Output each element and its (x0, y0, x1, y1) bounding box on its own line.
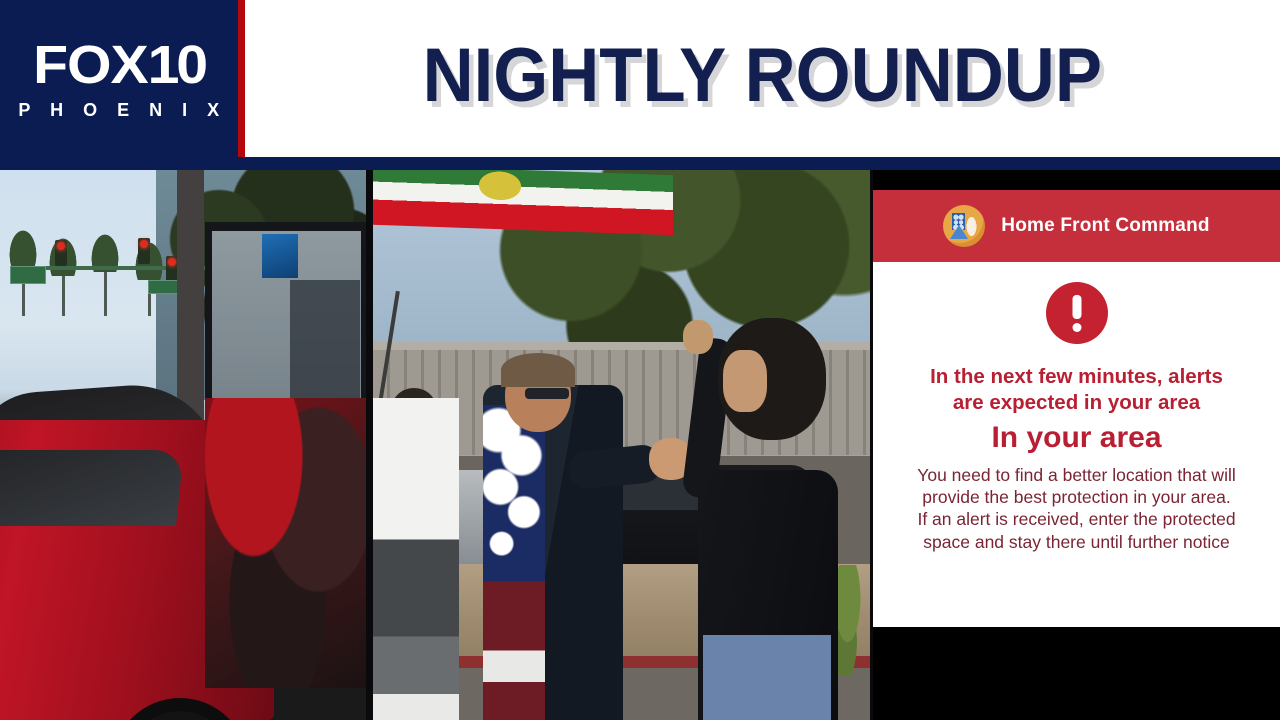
exclamation-bar (1072, 295, 1081, 319)
traffic-light (55, 240, 67, 266)
channel-number: 10 (148, 35, 205, 95)
header-bar: FOX10 P H O E N I X NIGHTLY ROUNDUP (0, 0, 1280, 157)
shelter-advertisement (262, 234, 298, 278)
letterbox-bottom (873, 627, 1280, 720)
sunglasses-icon (525, 388, 569, 399)
alert-body: In the next few minutes, alerts are expe… (873, 262, 1280, 627)
alert-instructions-line4: space and stay there until further notic… (923, 532, 1229, 552)
utility-pole (177, 170, 204, 430)
us-flag-cape (483, 405, 545, 720)
red-lamp (168, 258, 176, 266)
crashed-car-front-damage (205, 398, 366, 688)
protester-face (723, 350, 767, 412)
alert-card: Home Front Command In the next few minut… (873, 190, 1280, 627)
panel-alert-screenshot: Home Front Command In the next few minut… (873, 170, 1280, 720)
flag-man-hair (501, 353, 575, 387)
panel-car-crash (0, 170, 366, 720)
red-accent-stripe (238, 0, 245, 157)
crashed-car-window (0, 450, 184, 526)
alert-instructions-line1: You need to find a better location that … (917, 465, 1235, 485)
protester-jeans (703, 635, 831, 720)
panel-divider-left (366, 170, 373, 720)
iran-lion-sun-flag (373, 170, 673, 235)
protester-hand (683, 320, 713, 354)
fox10-wordmark: FOX10 (33, 38, 205, 92)
palm-fronds (6, 224, 40, 268)
exclamation-icon (1046, 282, 1108, 344)
alert-banner-title: Home Front Command (1001, 215, 1209, 237)
street-sign (10, 266, 46, 284)
show-title: NIGHTLY ROUNDUP (423, 38, 1102, 120)
navy-divider-bar (0, 157, 1280, 170)
show-title-area: NIGHTLY ROUNDUP (245, 0, 1280, 157)
traffic-light (138, 238, 150, 264)
alert-subheadline: In your area (991, 421, 1161, 454)
lion-and-sun-emblem (468, 170, 532, 201)
bystander-in-white-shirt (373, 398, 459, 720)
red-lamp (140, 240, 148, 248)
fox-word: FOX (33, 35, 147, 95)
broadcast-graphic: FOX10 P H O E N I X NIGHTLY ROUNDUP (0, 0, 1280, 720)
alert-banner: Home Front Command (873, 190, 1280, 262)
fox10-phoenix-logo: FOX10 P H O E N I X (0, 0, 238, 157)
alert-instructions-line3: If an alert is received, enter the prote… (917, 509, 1235, 529)
olive-branch-icon (964, 212, 979, 241)
red-lamp (57, 242, 65, 250)
street-sign (148, 280, 178, 294)
alert-headline: In the next few minutes, alerts are expe… (887, 364, 1267, 416)
story-panel-row: Home Front Command In the next few minut… (0, 170, 1280, 720)
exclamation-dot (1072, 323, 1081, 332)
letterbox-top (873, 170, 1280, 190)
home-front-command-logo-icon (943, 205, 985, 247)
market-name: P H O E N I X (18, 101, 226, 119)
alert-headline-line2: are expected in your area (953, 391, 1200, 414)
alert-instructions-line2: provide the best protection in your area… (922, 487, 1230, 507)
panel-street-rally (373, 170, 870, 720)
alert-instructions: You need to find a better location that … (881, 464, 1273, 554)
alert-headline-line1: In the next few minutes, alerts (930, 365, 1223, 388)
